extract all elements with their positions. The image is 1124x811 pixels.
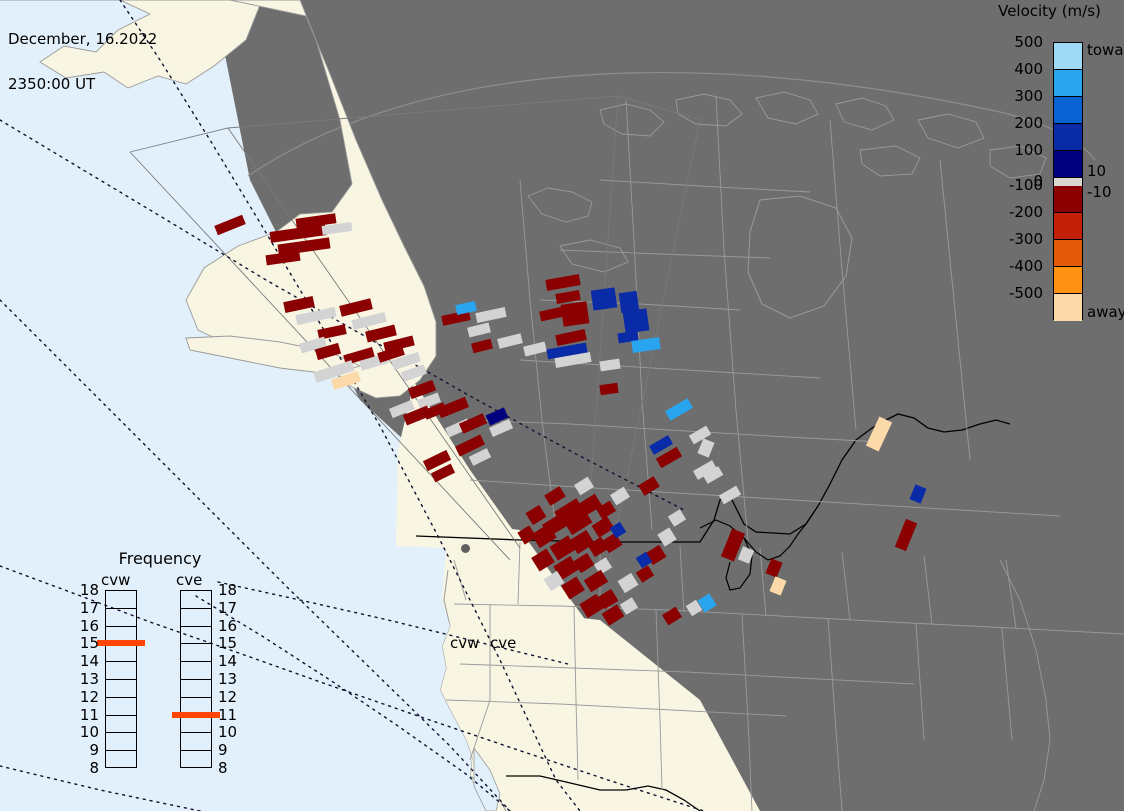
frequency-cell [106, 680, 136, 698]
colorbar-segment--300 [1054, 240, 1082, 267]
frequency-tick-cvw-17: 17 [69, 599, 99, 617]
colorbar-tick-400: 400 [1014, 60, 1043, 78]
frequency-tick-cve-12: 12 [218, 688, 248, 706]
radar-map-page: December, 16.2022 2350:00 UT Velocity (m… [0, 0, 1124, 811]
colorbar-gradient [1053, 42, 1083, 320]
frequency-tick-cvw-14: 14 [69, 652, 99, 670]
frequency-tick-cve-11: 11 [218, 706, 248, 724]
frequency-tick-cvw-10: 10 [69, 723, 99, 741]
frequency-bar-label-cvw: cvw [101, 571, 130, 589]
frequency-cell [106, 591, 136, 609]
timestamp: December, 16.2022 2350:00 UT [8, 2, 157, 122]
frequency-bar-cvw[interactable] [105, 590, 137, 768]
frequency-marker-cvw [97, 640, 145, 646]
velocity-cell [591, 287, 618, 310]
frequency-tick-cve-15: 15 [218, 634, 248, 652]
timestamp-date: December, 16.2022 [8, 32, 157, 47]
colorbar-tick--500: -500 [1009, 284, 1043, 302]
frequency-tick-cvw-18: 18 [69, 581, 99, 599]
colorbar-tick--100: -100 [1009, 176, 1043, 194]
colorbar-title: Velocity (m/s) [975, 2, 1124, 20]
velocity-cell [623, 308, 650, 333]
radar-site-marker [461, 544, 470, 553]
colorbar-segment-400 [1054, 70, 1082, 97]
colorbar-segment-0 [1054, 178, 1082, 186]
frequency-cell [106, 751, 136, 769]
colorbar-tick-500: 500 [1014, 33, 1043, 51]
radar-site-label-cve: cve [490, 634, 516, 652]
frequency-cell [106, 644, 136, 662]
colorbar-tick-300: 300 [1014, 87, 1043, 105]
colorbar-segment-100 [1054, 151, 1082, 178]
frequency-tick-cvw-11: 11 [69, 706, 99, 724]
timestamp-time: 2350:00 UT [8, 77, 157, 92]
colorbar-plus10-label: 10 [1087, 162, 1106, 180]
frequency-tick-cve-14: 14 [218, 652, 248, 670]
frequency-tick-cvw-15: 15 [69, 634, 99, 652]
frequency-tick-cve-18: 18 [218, 581, 248, 599]
colorbar-segment-500 [1054, 43, 1082, 70]
frequency-cell [181, 609, 211, 627]
colorbar-segment--400 [1054, 267, 1082, 294]
frequency-tick-cve-9: 9 [218, 741, 248, 759]
frequency-tick-cve-8: 8 [218, 759, 248, 777]
colorbar-segment--200 [1054, 213, 1082, 240]
radar-site-label-cvw: cvw [450, 634, 479, 652]
colorbar-tick--200: -200 [1009, 203, 1043, 221]
frequency-marker-cve [172, 712, 220, 718]
frequency-cell [181, 627, 211, 645]
frequency-tick-cve-16: 16 [218, 617, 248, 635]
frequency-cell [181, 733, 211, 751]
frequency-tick-cve-10: 10 [218, 723, 248, 741]
colorbar-toward-label: toward [1087, 41, 1124, 59]
colorbar-segment-300 [1054, 97, 1082, 124]
frequency-bar-label-cve: cve [176, 571, 202, 589]
frequency-cell [181, 644, 211, 662]
colorbar-tick--400: -400 [1009, 257, 1043, 275]
velocity-cell [561, 301, 590, 326]
velocity-colorbar: Velocity (m/s) 5004003002001000-100-200-… [975, 0, 1124, 340]
frequency-cell [106, 716, 136, 734]
frequency-bar-cve[interactable] [180, 590, 212, 768]
frequency-tick-cvw-16: 16 [69, 617, 99, 635]
colorbar-tick--300: -300 [1009, 230, 1043, 248]
velocity-cell [619, 291, 640, 313]
frequency-title: Frequency [85, 549, 235, 568]
colorbar-segment--500 [1054, 294, 1082, 321]
frequency-cell [106, 698, 136, 716]
frequency-cell [106, 733, 136, 751]
frequency-tick-cvw-13: 13 [69, 670, 99, 688]
frequency-tick-cve-17: 17 [218, 599, 248, 617]
frequency-cell [181, 591, 211, 609]
colorbar-segment-200 [1054, 124, 1082, 151]
frequency-cell [181, 680, 211, 698]
colorbar-away-label: away [1087, 303, 1124, 321]
frequency-tick-cve-13: 13 [218, 670, 248, 688]
frequency-cell [106, 609, 136, 627]
frequency-tick-cvw-8: 8 [69, 759, 99, 777]
colorbar-tick-200: 200 [1014, 114, 1043, 132]
frequency-cell [181, 662, 211, 680]
colorbar-segment--100 [1054, 186, 1082, 213]
frequency-cell [106, 662, 136, 680]
frequency-tick-cvw-12: 12 [69, 688, 99, 706]
frequency-panel: Frequency cvw18171615141312111098cve1817… [85, 545, 250, 795]
frequency-cell [181, 751, 211, 769]
colorbar-tick-100: 100 [1014, 141, 1043, 159]
colorbar-minus10-label: -10 [1087, 183, 1112, 201]
frequency-cell [181, 716, 211, 734]
frequency-tick-cvw-9: 9 [69, 741, 99, 759]
